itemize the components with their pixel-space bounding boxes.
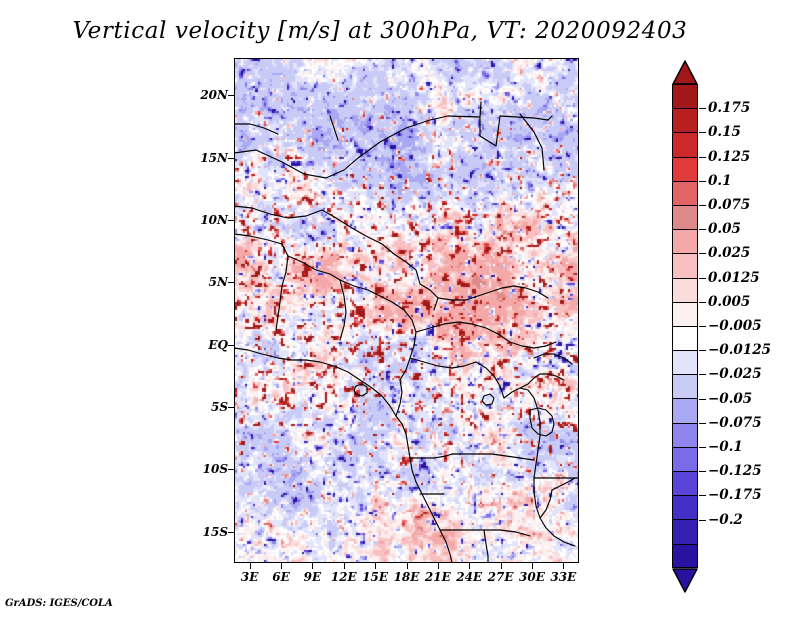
colorbar-tick-mark bbox=[699, 374, 706, 375]
colorbar-tick-mark bbox=[699, 495, 706, 496]
border-path bbox=[340, 280, 346, 340]
colorbar-tick-label: −0.05 bbox=[708, 391, 752, 407]
colorbar-band bbox=[672, 302, 698, 326]
y-axis-tick-label: 5N bbox=[209, 275, 228, 289]
colorbar-band bbox=[672, 519, 698, 543]
colorbar-tick-mark bbox=[699, 423, 706, 424]
border-path bbox=[540, 490, 552, 518]
colorbar-tick-mark bbox=[699, 471, 706, 472]
x-axis-tick-mark bbox=[281, 563, 282, 569]
colorbar-tick-label: −0.125 bbox=[708, 463, 762, 479]
x-axis-tick-mark bbox=[469, 563, 470, 569]
border-path bbox=[504, 388, 575, 546]
colorbar-tick-label: −0.075 bbox=[708, 415, 762, 431]
colorbar-band bbox=[672, 374, 698, 398]
colorbar-tick-label: −0.0125 bbox=[708, 342, 771, 358]
y-axis-tick-mark bbox=[228, 282, 234, 283]
y-axis-tick-label: EQ bbox=[208, 338, 228, 352]
x-axis-tick-label: 30E bbox=[519, 570, 545, 584]
colorbar-tick-mark bbox=[699, 132, 706, 133]
colorbar-tick-label: 0.1 bbox=[708, 173, 732, 189]
x-axis-tick-mark bbox=[563, 563, 564, 569]
x-axis-tick-label: 6E bbox=[272, 570, 290, 584]
colorbar-bands bbox=[672, 84, 698, 568]
colorbar-tick-label: 0.05 bbox=[708, 221, 741, 237]
x-axis-tick-mark bbox=[438, 563, 439, 569]
border-path bbox=[484, 530, 488, 563]
border-path bbox=[234, 116, 448, 178]
y-axis-tick-label: 10S bbox=[203, 462, 228, 476]
border-path bbox=[396, 380, 402, 416]
colorbar-arrow-top-icon bbox=[672, 60, 698, 85]
border-path bbox=[340, 280, 416, 332]
x-axis-tick-label: 21E bbox=[425, 570, 451, 584]
colorbar-tick-label: −0.175 bbox=[708, 487, 762, 503]
y-axis-tick-mark bbox=[228, 469, 234, 470]
colorbar-tick-label: −0.025 bbox=[708, 366, 762, 382]
x-axis-tick-label: 12E bbox=[331, 570, 357, 584]
border-path bbox=[520, 114, 544, 170]
y-axis-tick-label: 20N bbox=[200, 88, 228, 102]
border-path bbox=[520, 374, 564, 388]
colorbar-tick-mark bbox=[699, 326, 706, 327]
colorbar-tick-label: 0.075 bbox=[708, 197, 750, 213]
x-axis-tick-mark bbox=[375, 563, 376, 569]
colorbar-band bbox=[672, 132, 698, 156]
colorbar-arrow-bottom-icon bbox=[672, 568, 698, 593]
colorbar-band bbox=[672, 181, 698, 205]
y-axis-tick-mark bbox=[228, 158, 234, 159]
y-axis-ticks bbox=[228, 58, 234, 563]
border-path bbox=[482, 394, 494, 405]
border-path bbox=[354, 384, 367, 396]
colorbar-tick-mark bbox=[699, 108, 706, 109]
y-axis-tick-label: 10N bbox=[200, 213, 228, 227]
border-path bbox=[400, 332, 416, 380]
colorbar-tick-mark bbox=[699, 278, 706, 279]
map-panel[interactable] bbox=[234, 58, 579, 563]
colorbar-band bbox=[672, 278, 698, 302]
border-path bbox=[288, 256, 340, 280]
x-axis-tick-mark bbox=[532, 563, 533, 569]
border-path bbox=[234, 348, 396, 416]
colorbar-band bbox=[672, 398, 698, 422]
colorbar-band bbox=[672, 544, 698, 568]
colorbar-tick-label: −0.2 bbox=[708, 512, 743, 528]
colorbar-tick-label: 0.005 bbox=[708, 294, 750, 310]
border-path bbox=[416, 322, 510, 342]
colorbar-tick-mark bbox=[699, 253, 706, 254]
border-path bbox=[476, 362, 504, 398]
border-path bbox=[420, 284, 438, 310]
border-path bbox=[234, 124, 278, 134]
y-axis-tick-label: 5S bbox=[211, 400, 228, 414]
colorbar-tick-label: −0.005 bbox=[708, 318, 762, 334]
country-borders-overlay bbox=[234, 58, 579, 563]
border-path bbox=[480, 102, 481, 117]
border-path bbox=[438, 286, 548, 300]
colorbar-tick-mark bbox=[699, 399, 706, 400]
page-title: Vertical velocity [m/s] at 300hPa, VT: 2… bbox=[0, 18, 760, 44]
y-axis-tick-mark bbox=[228, 345, 234, 346]
x-axis-tick-label: 9E bbox=[304, 570, 322, 584]
x-axis-tick-label: 18E bbox=[394, 570, 420, 584]
x-axis-ticks bbox=[234, 563, 579, 569]
border-path bbox=[234, 234, 288, 330]
colorbar-tick-mark bbox=[699, 350, 706, 351]
colorbar-tick-mark bbox=[699, 302, 706, 303]
x-axis-tick-label: 3E bbox=[241, 570, 259, 584]
x-axis-labels: 3E6E9E12E15E18E21E24E27E30E33E bbox=[234, 570, 579, 588]
x-axis-tick-mark bbox=[312, 563, 313, 569]
colorbar-band bbox=[672, 326, 698, 350]
border-path bbox=[410, 454, 452, 458]
colorbar-tick-mark bbox=[699, 447, 706, 448]
colorbar-tick-label: 0.025 bbox=[708, 245, 750, 261]
colorbar-tick-label: 0.125 bbox=[708, 149, 750, 165]
colorbar-band bbox=[672, 423, 698, 447]
colorbar[interactable]: 0.1750.150.1250.10.0750.050.0250.01250.0… bbox=[672, 60, 792, 560]
colorbar-band bbox=[672, 253, 698, 277]
colorbar-tick-mark bbox=[699, 181, 706, 182]
border-path bbox=[452, 454, 534, 460]
y-axis-tick-mark bbox=[228, 95, 234, 96]
colorbar-band bbox=[672, 447, 698, 471]
border-path bbox=[410, 358, 476, 368]
border-path bbox=[500, 116, 552, 120]
y-axis-tick-label: 15N bbox=[200, 151, 228, 165]
border-path bbox=[234, 206, 420, 284]
colorbar-tick-mark bbox=[699, 520, 706, 521]
colorbar-band bbox=[672, 229, 698, 253]
colorbar-tick-mark bbox=[699, 205, 706, 206]
border-path bbox=[396, 416, 452, 563]
colorbar-tick-label: 0.175 bbox=[708, 100, 750, 116]
x-axis-tick-label: 24E bbox=[456, 570, 482, 584]
colorbar-band bbox=[672, 84, 698, 108]
colorbar-tick-mark bbox=[699, 157, 706, 158]
y-axis-tick-label: 15S bbox=[203, 525, 228, 539]
y-axis-labels: 20N15N10N5NEQ5S10S15S bbox=[186, 58, 228, 563]
footer-credit: GrADS: IGES/COLA bbox=[5, 598, 113, 609]
border-path bbox=[448, 116, 500, 146]
colorbar-band bbox=[672, 108, 698, 132]
x-axis-tick-mark bbox=[344, 563, 345, 569]
x-axis-tick-label: 27E bbox=[488, 570, 514, 584]
colorbar-tick-label: 0.0125 bbox=[708, 270, 760, 286]
colorbar-tick-label: −0.1 bbox=[708, 439, 743, 455]
colorbar-band bbox=[672, 157, 698, 181]
border-path bbox=[530, 408, 554, 436]
colorbar-band bbox=[672, 350, 698, 374]
x-axis-tick-mark bbox=[501, 563, 502, 569]
border-path bbox=[534, 354, 572, 364]
colorbar-band bbox=[672, 205, 698, 229]
y-axis-tick-mark bbox=[228, 532, 234, 533]
x-axis-tick-label: 15E bbox=[362, 570, 388, 584]
x-axis-tick-mark bbox=[407, 563, 408, 569]
y-axis-tick-mark bbox=[228, 407, 234, 408]
colorbar-band bbox=[672, 495, 698, 519]
border-path bbox=[330, 116, 338, 140]
y-axis-tick-mark bbox=[228, 220, 234, 221]
border-path bbox=[510, 342, 556, 348]
x-axis-tick-mark bbox=[250, 563, 251, 569]
colorbar-band bbox=[672, 471, 698, 495]
colorbar-tick-mark bbox=[699, 229, 706, 230]
border-path bbox=[552, 478, 575, 490]
colorbar-tick-label: 0.15 bbox=[708, 124, 741, 140]
x-axis-tick-label: 33E bbox=[550, 570, 576, 584]
